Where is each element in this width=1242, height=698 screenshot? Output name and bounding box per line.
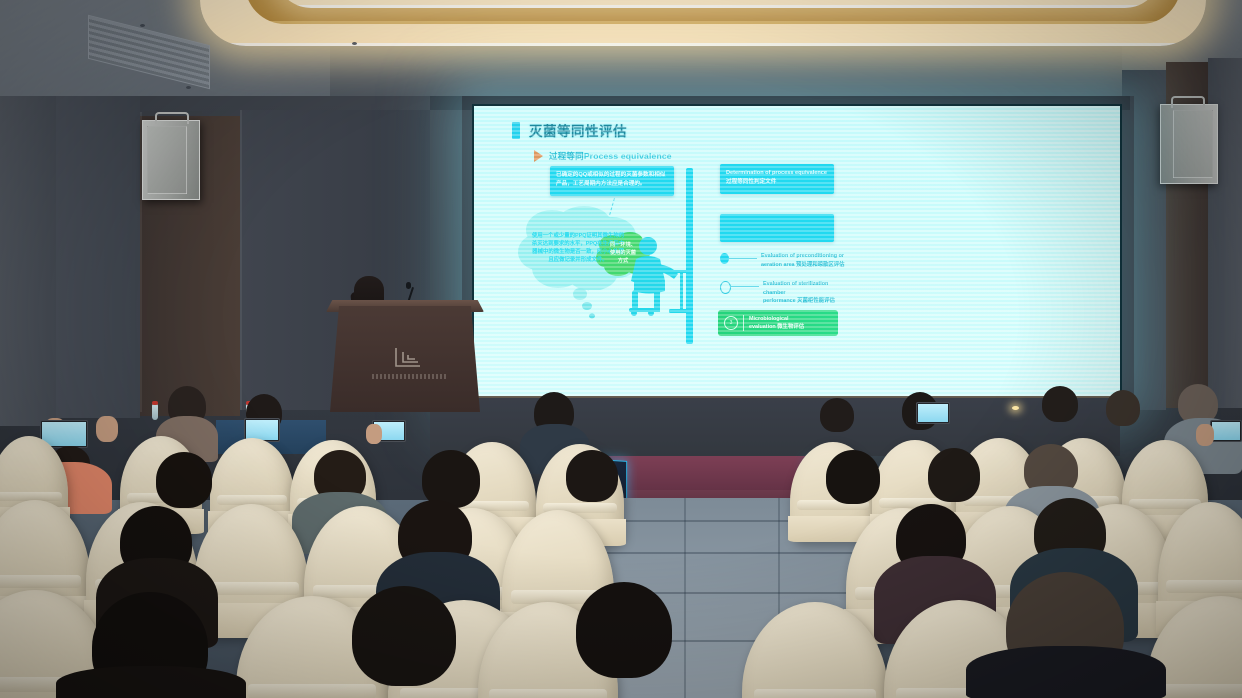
title-accent-bar-icon <box>512 122 520 139</box>
chair-sash <box>754 689 877 698</box>
wall-speaker-right <box>1160 104 1218 184</box>
slide-subtitle-en: Process equivalence <box>584 151 672 161</box>
drop-marker-icon <box>720 253 729 264</box>
chair-sash <box>1158 684 1242 698</box>
audience-hand <box>96 416 118 442</box>
slide-bullet-1-text: Evaluation of preconditioning or aeratio… <box>757 252 845 269</box>
chair-sash <box>1166 580 1242 593</box>
phone-camera[interactable] <box>1210 420 1242 442</box>
speaker-bracket-icon <box>155 112 189 124</box>
slide-title-row: 灭菌等同性评估 <box>512 120 627 140</box>
slide-bullet-2-text: Evaluation of sterilization chamber perf… <box>759 280 850 306</box>
chair-sash <box>248 684 376 698</box>
slide-vertical-divider <box>686 168 693 344</box>
podium-nameplate <box>372 374 448 379</box>
phone-screen <box>42 422 86 446</box>
slide-title: 灭菌等同性评估 <box>529 120 627 140</box>
slide-subtitle-row: 过程等同Process equivalence <box>534 150 672 162</box>
slide-top-callout-box: 已确定的QQ或相似的过程的灭菌参数和相似产品，工艺周期内方法应是合理的。 <box>550 166 674 196</box>
slide-subtitle: 过程等同Process equivalence <box>549 150 672 162</box>
bullet-2-line-1: Evaluation of sterilization chamber <box>763 280 850 297</box>
slide-content: 灭菌等同性评估 过程等同Process equivalence 已确定的QQ或相… <box>474 106 1120 400</box>
audience-head <box>576 582 672 678</box>
phone-screen <box>246 420 278 440</box>
ceiling-sprinkler-icon <box>352 42 357 45</box>
badge-number-icon: 3 <box>724 316 738 330</box>
floor-plank-seam <box>588 552 878 554</box>
green-box-line-2: evaluation 微生物评估 <box>749 323 804 331</box>
phone-camera[interactable] <box>916 402 950 424</box>
cloud-tail-bubbles-icon <box>570 288 600 324</box>
water-bottle <box>152 404 158 420</box>
conference-hall-photo: 灭菌等同性评估 过程等同Process equivalence 已确定的QQ或相… <box>0 0 1242 698</box>
ceiling-sprinkler-icon <box>140 24 145 27</box>
audience-head <box>1042 386 1078 422</box>
phone-screen <box>918 404 948 422</box>
podium-logo-icon <box>392 346 424 368</box>
slide-right-blank-box <box>720 214 834 242</box>
projection-screen: 灭菌等同性评估 过程等同Process equivalence 已确定的QQ或相… <box>474 106 1120 400</box>
audience-torso <box>56 666 246 698</box>
thought-cloud-green: 同一环境、使用的灭菌方式 <box>596 232 650 276</box>
audience-head <box>352 586 456 686</box>
audience-head <box>820 398 854 432</box>
slide-bullet-1: Evaluation of preconditioning or aeratio… <box>720 252 850 269</box>
audience-head <box>566 450 618 502</box>
thought-cloud-green-text: 同一环境、使用的灭菌方式 <box>596 232 650 276</box>
speaker-bracket-icon <box>1171 96 1205 108</box>
slide-subtitle-cn: 过程等同 <box>549 151 584 161</box>
bullet-1-line-2: aeration area 预处理和晾散区评估 <box>761 261 845 270</box>
slide-green-callout-text: Microbiological evaluation 微生物评估 <box>749 315 804 331</box>
green-box-separator <box>743 315 744 331</box>
ceiling <box>0 0 1242 108</box>
chair-sash <box>489 689 607 698</box>
bullet-2-line-2: performance 灭菌柜性能评估 <box>763 297 850 306</box>
triangle-bullet-icon <box>534 150 543 162</box>
floor-tile-seam <box>684 498 686 698</box>
microphone-icon <box>406 282 411 289</box>
audience-head <box>1106 390 1140 426</box>
slide-green-callout-box: 3 Microbiological evaluation 微生物评估 <box>718 310 838 336</box>
ceiling-cove-light-2 <box>275 0 1161 8</box>
wall-panel <box>56 96 140 418</box>
green-box-line-1: Microbiological <box>749 315 804 323</box>
ceiling-sprinkler-icon <box>186 86 191 89</box>
bottle-cap <box>152 401 158 405</box>
audience-head <box>928 448 980 502</box>
bullet-leader-line <box>731 286 759 287</box>
panel-seam <box>240 110 242 410</box>
bullet-1-line-1: Evaluation of preconditioning or <box>761 252 845 261</box>
slide-right-header-box: Determination of process equivalence 过程等… <box>720 164 834 194</box>
audience-torso <box>966 646 1166 698</box>
bullet-leader-line <box>729 258 757 259</box>
slide-bullet-2: Evaluation of sterilization chamber perf… <box>720 280 850 306</box>
stage-light-icon <box>1012 406 1019 410</box>
speaker-grille <box>147 126 187 194</box>
drop-marker-outline-icon <box>720 281 731 294</box>
slide-right-header-text: Determination of process equivalence 过程等… <box>726 169 828 186</box>
slide-top-callout-text: 已确定的QQ或相似的过程的灭菌参数和相似产品，工艺周期内方法应是合理的。 <box>556 171 668 188</box>
chair-sash <box>0 575 81 588</box>
audience-head <box>826 450 880 504</box>
audience-hand <box>366 424 382 444</box>
wall-panel <box>0 96 56 426</box>
audience-head <box>156 452 212 508</box>
audience-hand <box>1196 424 1214 446</box>
phone-screen <box>1212 422 1240 440</box>
wall-speaker-left <box>142 120 200 200</box>
speaker-grille <box>1173 110 1213 178</box>
